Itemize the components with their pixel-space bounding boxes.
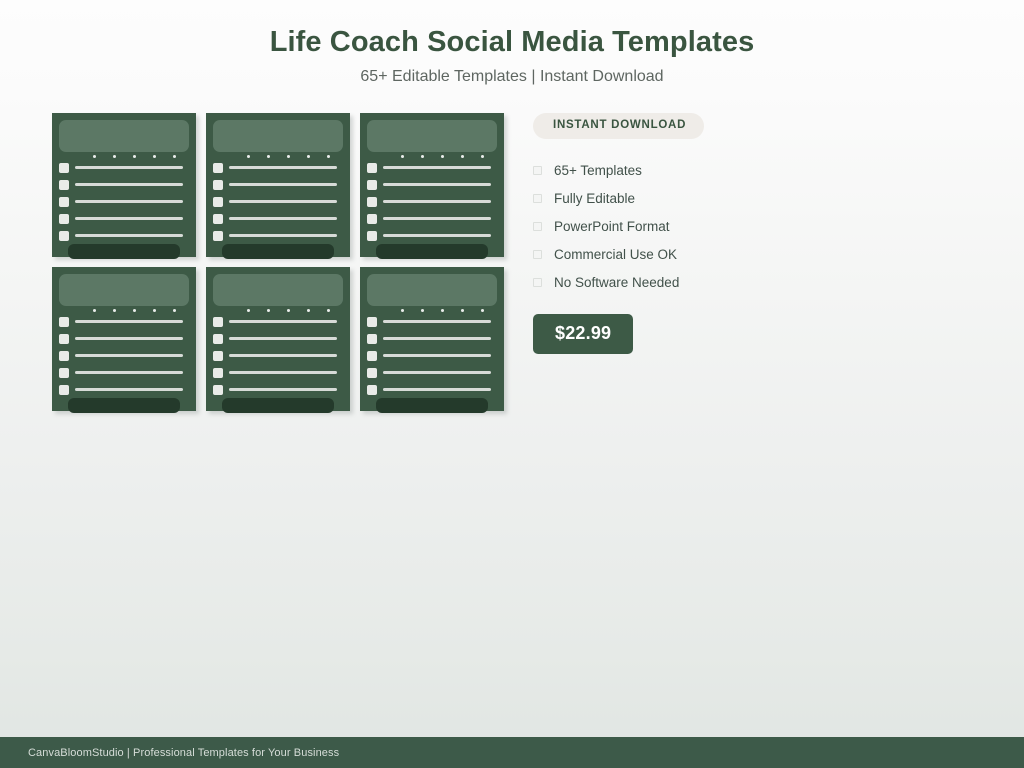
card-row-marker-icon: [59, 231, 69, 241]
card-row: [367, 330, 497, 347]
card-row: [213, 364, 343, 381]
card-row-line: [229, 371, 337, 374]
card-row-marker-icon: [213, 368, 223, 378]
card-row-line: [75, 371, 183, 374]
card-row: [213, 347, 343, 364]
card-row-marker-icon: [367, 317, 377, 327]
card-row-marker-icon: [367, 334, 377, 344]
card-dot: [481, 309, 484, 312]
card-row-marker-icon: [213, 317, 223, 327]
card-row: [213, 381, 343, 398]
card-footer-bar: [68, 398, 180, 413]
card-row: [367, 381, 497, 398]
card-dot: [113, 155, 116, 158]
card-row-marker-icon: [213, 197, 223, 207]
card-row-marker-icon: [59, 351, 69, 361]
card-row-list: [367, 313, 497, 398]
feature-label: PowerPoint Format: [554, 219, 670, 235]
card-dot: [153, 155, 156, 158]
card-row-marker-icon: [367, 197, 377, 207]
card-dot: [421, 155, 424, 158]
card-row: [367, 347, 497, 364]
card-footer-bar: [68, 244, 180, 259]
card-dot: [93, 155, 96, 158]
card-dot: [153, 309, 156, 312]
card-row: [59, 210, 189, 227]
card-dot: [441, 309, 444, 312]
card-row: [59, 364, 189, 381]
card-dot: [267, 309, 270, 312]
card-dot: [327, 155, 330, 158]
card-row: [59, 176, 189, 193]
card-row-marker-icon: [213, 231, 223, 241]
card-row: [59, 159, 189, 176]
page-subtitle: 65+ Editable Templates | Instant Downloa…: [0, 67, 1024, 88]
card-header-bar: [213, 120, 343, 152]
card-row-line: [75, 166, 183, 169]
feature-item: Fully Editable: [533, 185, 863, 213]
checkbox-icon: [533, 278, 542, 287]
card-row: [367, 313, 497, 330]
card-row-marker-icon: [367, 385, 377, 395]
feature-item: Commercial Use OK: [533, 241, 863, 269]
card-row-marker-icon: [59, 214, 69, 224]
checkbox-icon: [533, 250, 542, 259]
card-row-marker-icon: [213, 351, 223, 361]
card-dot: [441, 155, 444, 158]
card-dot: [401, 155, 404, 158]
card-row-marker-icon: [367, 231, 377, 241]
card-row-line: [229, 337, 337, 340]
card-row-marker-icon: [213, 385, 223, 395]
card-row-line: [383, 354, 491, 357]
card-dot: [247, 309, 250, 312]
template-card[interactable]: [52, 267, 196, 411]
feature-item: PowerPoint Format: [533, 213, 863, 241]
card-row-line: [383, 320, 491, 323]
site-footer: CanvaBloomStudio | Professional Template…: [0, 737, 1024, 768]
card-row-line: [383, 388, 491, 391]
card-row-marker-icon: [59, 197, 69, 207]
card-row-marker-icon: [213, 214, 223, 224]
card-row-marker-icon: [367, 368, 377, 378]
template-card[interactable]: [206, 267, 350, 411]
card-dot: [133, 155, 136, 158]
card-row-marker-icon: [367, 180, 377, 190]
card-row-line: [229, 166, 337, 169]
card-row-list: [367, 159, 497, 244]
checkbox-icon: [533, 166, 542, 175]
card-row: [59, 227, 189, 244]
card-row-marker-icon: [59, 317, 69, 327]
card-header-bar: [59, 274, 189, 306]
card-row-line: [75, 200, 183, 203]
card-dot: [247, 155, 250, 158]
card-row-line: [383, 371, 491, 374]
card-row-marker-icon: [213, 180, 223, 190]
card-row-marker-icon: [367, 214, 377, 224]
card-row-line: [75, 388, 183, 391]
card-dot: [93, 309, 96, 312]
card-row-marker-icon: [367, 163, 377, 173]
card-row-marker-icon: [213, 334, 223, 344]
card-dot: [267, 155, 270, 158]
card-header-bar: [59, 120, 189, 152]
card-row: [213, 159, 343, 176]
card-row-line: [229, 200, 337, 203]
card-row-list: [213, 159, 343, 244]
card-row-marker-icon: [59, 368, 69, 378]
card-row: [59, 313, 189, 330]
card-row: [367, 227, 497, 244]
page-title: Life Coach Social Media Templates: [0, 24, 1024, 60]
card-row-marker-icon: [59, 163, 69, 173]
card-row-line: [75, 354, 183, 357]
card-row-line: [75, 337, 183, 340]
feature-label: Commercial Use OK: [554, 247, 677, 263]
card-row: [367, 176, 497, 193]
card-row: [59, 381, 189, 398]
card-row: [367, 210, 497, 227]
card-dot: [173, 155, 176, 158]
card-row: [213, 227, 343, 244]
card-dot: [287, 309, 290, 312]
card-row: [213, 176, 343, 193]
card-row: [367, 364, 497, 381]
card-footer-bar: [376, 398, 488, 413]
card-row-line: [383, 200, 491, 203]
feature-label: 65+ Templates: [554, 163, 642, 179]
card-footer-bar: [376, 244, 488, 259]
footer-text: CanvaBloomStudio | Professional Template…: [0, 747, 339, 759]
card-header-bar: [367, 274, 497, 306]
card-row-marker-icon: [59, 180, 69, 190]
card-dot: [307, 309, 310, 312]
checkbox-icon: [533, 194, 542, 203]
card-row-marker-icon: [213, 163, 223, 173]
card-row-marker-icon: [59, 385, 69, 395]
card-row-line: [75, 320, 183, 323]
card-row: [213, 193, 343, 210]
card-dot: [421, 309, 424, 312]
card-row: [367, 193, 497, 210]
card-row-line: [229, 388, 337, 391]
product-info-panel: INSTANT DOWNLOAD 65+ TemplatesFully Edit…: [533, 113, 863, 354]
card-header-bar: [213, 274, 343, 306]
card-row: [59, 193, 189, 210]
template-card[interactable]: [360, 113, 504, 257]
card-header-bar: [367, 120, 497, 152]
page-header: Life Coach Social Media Templates 65+ Ed…: [0, 0, 1024, 88]
feature-label: No Software Needed: [554, 275, 679, 291]
card-dot: [461, 155, 464, 158]
card-row-line: [229, 234, 337, 237]
feature-item: No Software Needed: [533, 269, 863, 297]
card-dot: [481, 155, 484, 158]
feature-item: 65+ Templates: [533, 157, 863, 185]
card-dot: [461, 309, 464, 312]
template-card[interactable]: [206, 113, 350, 257]
card-dot: [401, 309, 404, 312]
card-dot: [133, 309, 136, 312]
card-row-line: [75, 183, 183, 186]
price-button[interactable]: $22.99: [533, 314, 633, 355]
card-footer-bar: [222, 398, 334, 413]
card-row-marker-icon: [367, 351, 377, 361]
card-dot: [173, 309, 176, 312]
card-row: [213, 210, 343, 227]
card-row-line: [75, 217, 183, 220]
template-card[interactable]: [52, 113, 196, 257]
card-row-list: [213, 313, 343, 398]
card-dot: [287, 155, 290, 158]
instant-download-badge: INSTANT DOWNLOAD: [533, 113, 704, 139]
card-dot: [307, 155, 310, 158]
card-row-line: [383, 234, 491, 237]
card-row-line: [383, 166, 491, 169]
card-row-line: [229, 320, 337, 323]
card-row-marker-icon: [59, 334, 69, 344]
template-card[interactable]: [360, 267, 504, 411]
card-row: [213, 330, 343, 347]
card-row-line: [229, 183, 337, 186]
card-dot: [113, 309, 116, 312]
card-row-line: [229, 217, 337, 220]
card-row-line: [229, 354, 337, 357]
card-row-list: [59, 159, 189, 244]
card-dot: [327, 309, 330, 312]
template-preview-grid: [52, 113, 504, 411]
card-row-list: [59, 313, 189, 398]
checkbox-icon: [533, 222, 542, 231]
card-row-line: [383, 183, 491, 186]
card-row: [213, 313, 343, 330]
card-row: [367, 159, 497, 176]
feature-list: 65+ TemplatesFully EditablePowerPoint Fo…: [533, 157, 863, 297]
card-footer-bar: [222, 244, 334, 259]
card-row-line: [383, 337, 491, 340]
card-row-line: [75, 234, 183, 237]
card-row-line: [383, 217, 491, 220]
feature-label: Fully Editable: [554, 191, 635, 207]
card-row: [59, 347, 189, 364]
card-row: [59, 330, 189, 347]
